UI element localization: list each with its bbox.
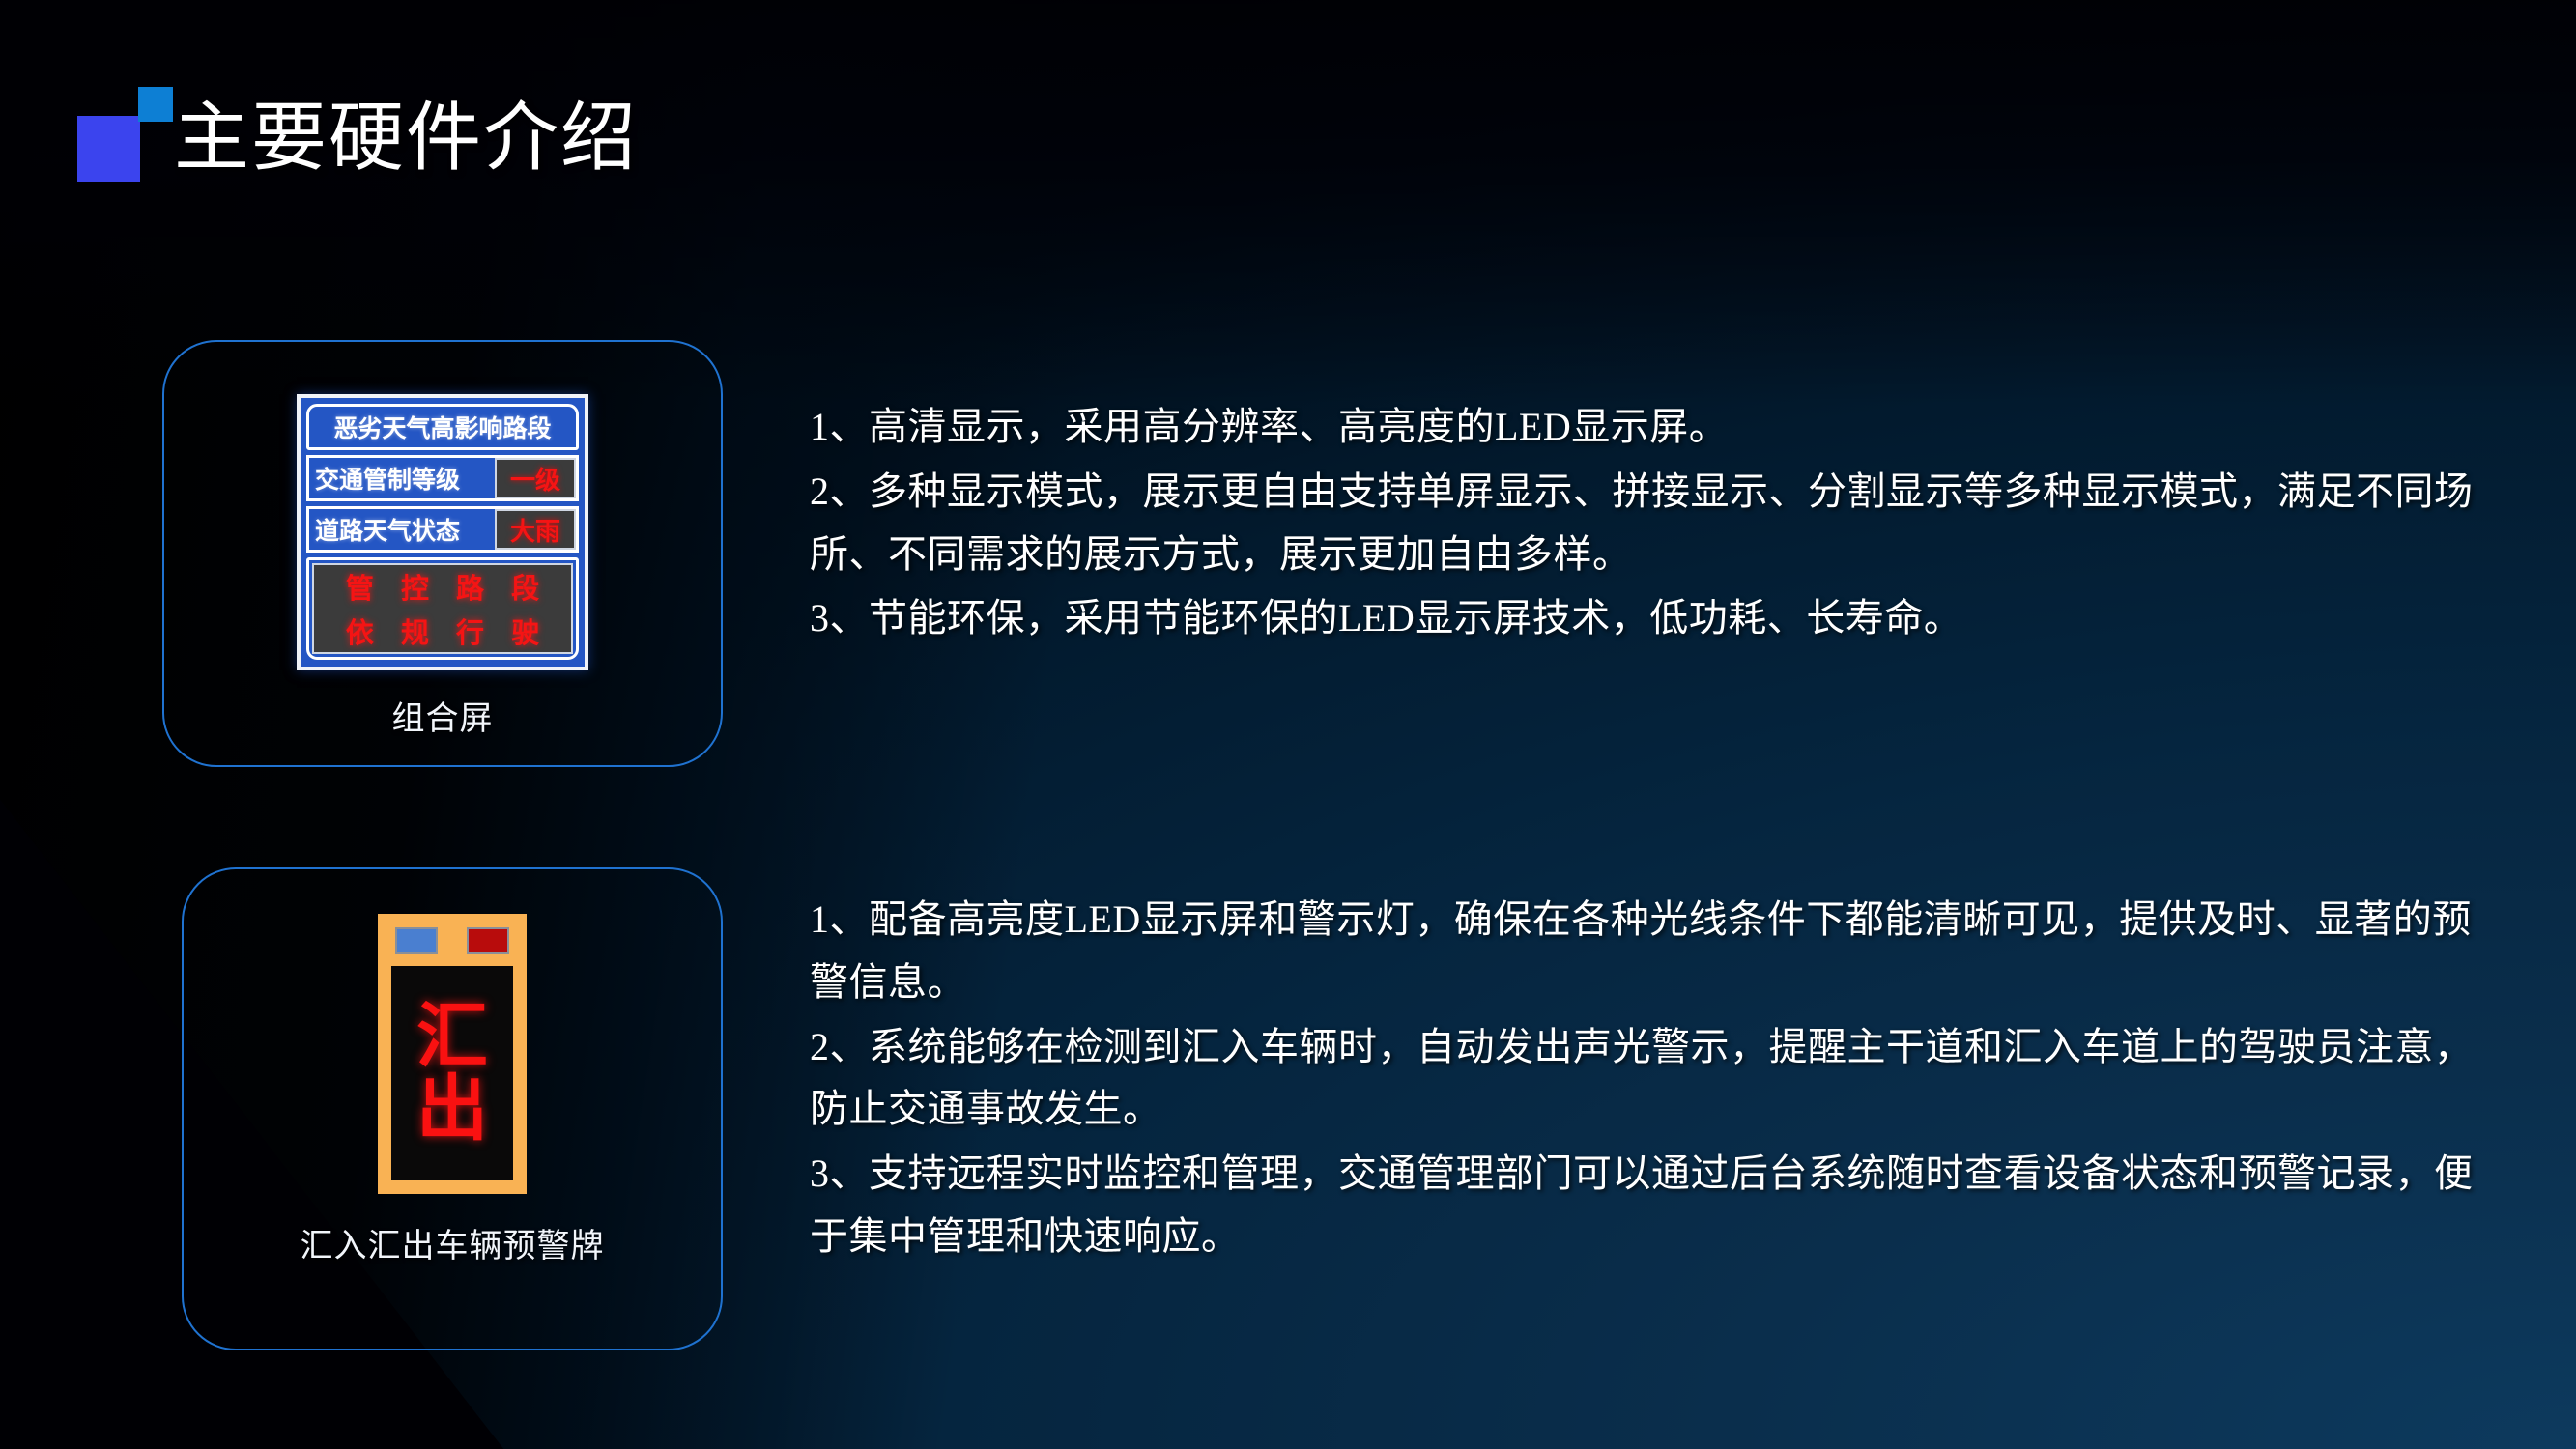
led-label-control-level: 交通管制等级 [309, 461, 495, 496]
device-card-merge-warning-sign: 汇 出 汇入汇出车辆预警牌 [182, 867, 723, 1350]
feature-item: 3、支持远程实时监控和管理，交通管理部门可以通过后台系统随时查看设备状态和预警记… [810, 1143, 2491, 1268]
led-value-box-control-level: 一级 [495, 458, 576, 498]
led-value-control-level: 一级 [510, 461, 560, 497]
led-message-frame: 管 控 路 段 依 规 行 驶 [306, 557, 579, 660]
feature-item: 1、配备高亮度LED显示屏和警示灯，确保在各种光线条件下都能清晰可见，提供及时、… [810, 889, 2491, 1014]
feature-item: 1、高清显示，采用高分辨率、高亮度的LED显示屏。 [810, 396, 2491, 459]
feature-list-combo-screen: 1、高清显示，采用高分辨率、高亮度的LED显示屏。 2、多种显示模式，展示更自由… [810, 396, 2491, 650]
square-large-icon [77, 116, 140, 182]
led-combo-sign: 恶劣天气高影响路段 交通管制等级 一级 道路天气状态 大雨 管 控 路 段 依 … [297, 394, 588, 670]
merge-sign-char-1: 汇 [416, 1002, 488, 1072]
led-header-text: 恶劣天气高影响路段 [333, 410, 551, 444]
led-message-screen: 管 控 路 段 依 规 行 驶 [312, 563, 573, 654]
indicator-lamp-red-icon [467, 927, 509, 954]
device-card-combo-screen: 恶劣天气高影响路段 交通管制等级 一级 道路天气状态 大雨 管 控 路 段 依 … [162, 340, 723, 767]
merge-sign-char-2: 出 [416, 1074, 488, 1145]
feature-list-merge-warning-sign: 1、配备高亮度LED显示屏和警示灯，确保在各种光线条件下都能清晰可见，提供及时、… [810, 889, 2491, 1268]
led-row-control-level: 交通管制等级 一级 [306, 455, 579, 501]
led-header-row: 恶劣天气高影响路段 [306, 404, 579, 450]
merge-sign-display: 汇 出 [391, 966, 513, 1180]
led-row-weather-state: 道路天气状态 大雨 [306, 506, 579, 553]
square-small-icon [138, 87, 173, 122]
page-header: 主要硬件介绍 [68, 75, 638, 182]
led-message-line-1: 管 控 路 段 [336, 566, 549, 607]
led-message-line-2: 依 规 行 驶 [336, 611, 549, 651]
merge-sign-lamp-row [391, 925, 513, 956]
device-caption-merge-warning-sign: 汇入汇出车辆预警牌 [301, 1219, 605, 1266]
led-value-weather-state: 大雨 [510, 512, 560, 548]
title-marker [68, 75, 164, 182]
indicator-lamp-blue-icon [395, 927, 438, 954]
feature-item: 2、多种显示模式，展示更自由支持单屏显示、拼接显示、分割显示等多种显示模式，满足… [810, 461, 2491, 586]
feature-item: 2、系统能够在检测到汇入车辆时，自动发出声光警示，提醒主干道和汇入车道上的驾驶员… [810, 1016, 2491, 1142]
led-label-weather-state: 道路天气状态 [309, 512, 495, 547]
device-caption-combo-screen: 组合屏 [392, 692, 494, 739]
page-title: 主要硬件介绍 [174, 100, 638, 176]
feature-item: 3、节能环保，采用节能环保的LED显示屏技术，低功耗、长寿命。 [810, 587, 2491, 650]
merge-warning-sign: 汇 出 [378, 914, 527, 1194]
led-value-box-weather-state: 大雨 [495, 509, 576, 550]
